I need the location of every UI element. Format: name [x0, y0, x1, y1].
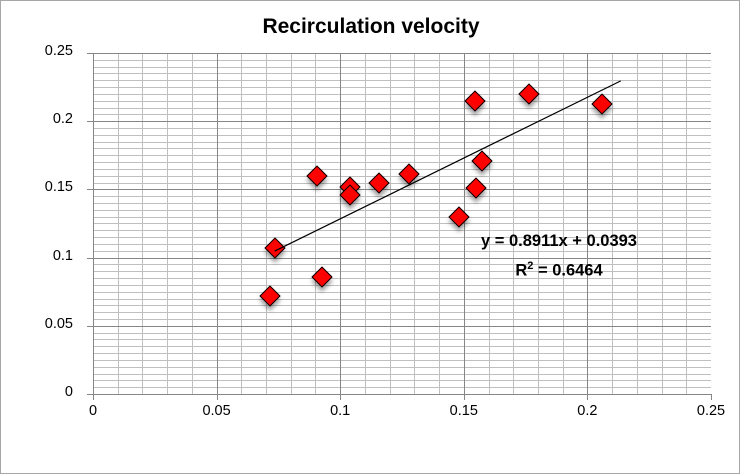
y-tick-label: 0.2	[1, 111, 83, 127]
x-tick-label: 0.25	[671, 403, 740, 419]
x-tick-mark	[93, 394, 94, 400]
y-axis-line	[93, 53, 94, 395]
trendline-equation: y = 0.8911x + 0.0393	[431, 229, 687, 254]
y-tick-label: 0.25	[1, 43, 83, 59]
y-tick-label: 0.15	[1, 179, 83, 195]
r-symbol: R	[515, 262, 527, 280]
y-tick-label: 0.05	[1, 316, 83, 332]
y-tick-mark	[87, 326, 93, 327]
major-gridlines	[93, 53, 711, 394]
x-tick-label: 0.1	[300, 403, 380, 419]
y-tick-label: 0.1	[1, 248, 83, 264]
x-tick-mark	[340, 394, 341, 400]
x-tick-mark	[587, 394, 588, 400]
plot-area	[93, 53, 711, 394]
trendline-equation-block: y = 0.8911x + 0.0393 R2 = 0.6464	[431, 229, 687, 284]
x-tick-mark	[464, 394, 465, 400]
y-tick-mark	[87, 258, 93, 259]
y-tick-mark	[87, 53, 93, 54]
chart-container: Recirculation velocity 00.050.10.150.20.…	[0, 0, 740, 474]
y-tick-label: 0	[1, 384, 83, 400]
trendline-r-squared: R2 = 0.6464	[431, 254, 687, 284]
r-exponent: 2	[527, 260, 533, 272]
x-axis-line	[93, 394, 712, 395]
r-squared-value: = 0.6464	[538, 262, 603, 280]
x-tick-label: 0.15	[424, 403, 504, 419]
x-tick-label: 0.05	[177, 403, 257, 419]
chart-title: Recirculation velocity	[1, 15, 740, 39]
x-tick-mark	[217, 394, 218, 400]
y-tick-mark	[87, 189, 93, 190]
x-tick-label: 0	[53, 403, 133, 419]
x-tick-mark	[711, 394, 712, 400]
x-tick-label: 0.2	[547, 403, 627, 419]
y-tick-mark	[87, 121, 93, 122]
